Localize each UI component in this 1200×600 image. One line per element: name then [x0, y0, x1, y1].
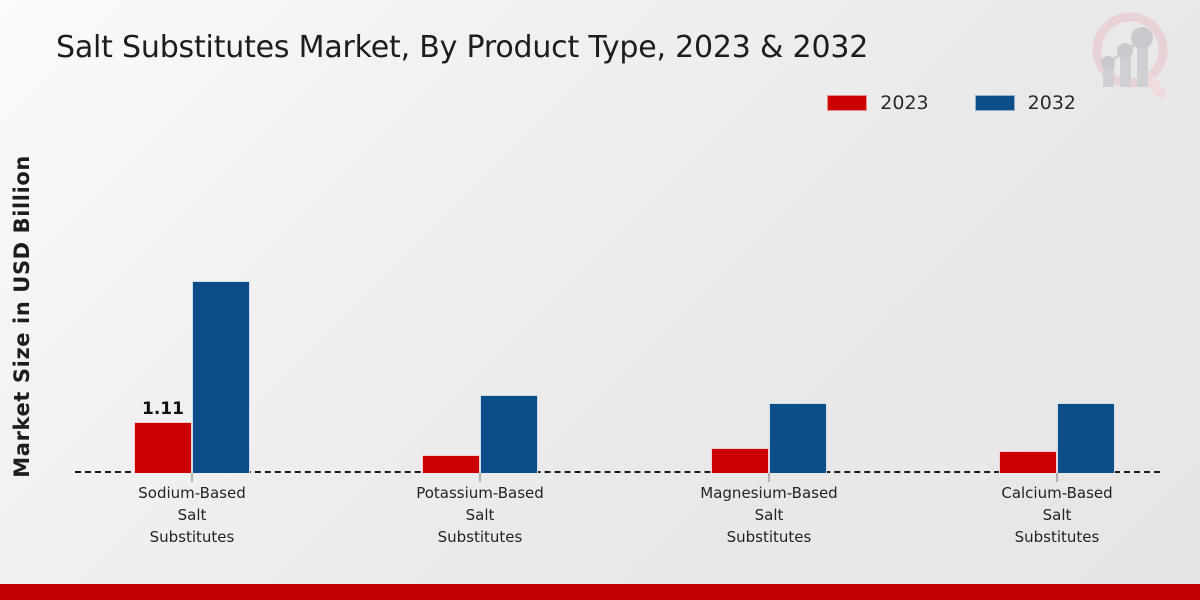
chart-container: Salt Substitutes Market, By Product Type…	[0, 0, 1200, 600]
bar-group	[711, 140, 827, 473]
x-axis-tick	[192, 473, 193, 482]
bar-group	[999, 140, 1115, 473]
x-axis-label-line: Salt	[947, 504, 1167, 526]
plot-area: 1.11	[75, 140, 1160, 473]
legend-item-2023[interactable]: 2023	[827, 92, 928, 114]
bar-value-label: 1.11	[142, 399, 184, 419]
x-axis-label-line: Substitutes	[947, 526, 1167, 548]
x-axis-label-1: Sodium-BasedSaltSubstitutes	[82, 482, 302, 548]
bar-2032-1[interactable]	[192, 281, 250, 473]
x-axis-label-line: Salt	[370, 504, 590, 526]
legend-item-2032[interactable]: 2032	[975, 92, 1076, 114]
legend-label-2023: 2023	[880, 92, 928, 114]
x-axis-label-line: Substitutes	[82, 526, 302, 548]
x-axis-label-line: Calcium-Based	[947, 482, 1167, 504]
x-axis-label-line: Potassium-Based	[370, 482, 590, 504]
bar-group: 1.11	[134, 140, 250, 473]
bar-2023-3[interactable]	[711, 448, 769, 473]
x-axis-label-3: Magnesium-BasedSaltSubstitutes	[659, 482, 879, 548]
bar-2032-3[interactable]	[769, 403, 827, 473]
x-axis-label-2: Potassium-BasedSaltSubstitutes	[370, 482, 590, 548]
x-axis-label-line: Sodium-Based	[82, 482, 302, 504]
x-axis-label-line: Substitutes	[370, 526, 590, 548]
bar-2032-4[interactable]	[1057, 403, 1115, 473]
bar-2023-1[interactable]: 1.11	[134, 422, 192, 473]
chart-title: Salt Substitutes Market, By Product Type…	[56, 30, 868, 65]
bar-2023-2[interactable]	[422, 455, 480, 473]
x-axis-label-4: Calcium-BasedSaltSubstitutes	[947, 482, 1167, 548]
footer-accent-bar	[0, 584, 1200, 600]
chart-legend: 2023 2032	[827, 92, 1076, 114]
bar-2023-4[interactable]	[999, 451, 1057, 473]
legend-swatch-2023	[827, 95, 867, 111]
x-axis-tick	[1057, 473, 1058, 482]
x-axis-tick	[480, 473, 481, 482]
y-axis-title: Market Size in USD Billion	[0, 146, 44, 486]
x-axis-label-line: Salt	[82, 504, 302, 526]
x-axis-tick	[769, 473, 770, 482]
x-axis-label-line: Salt	[659, 504, 879, 526]
legend-swatch-2032	[975, 95, 1015, 111]
bar-2032-2[interactable]	[480, 395, 538, 473]
bar-group	[422, 140, 538, 473]
y-axis-title-text: Market Size in USD Billion	[10, 155, 34, 478]
legend-label-2032: 2032	[1028, 92, 1076, 114]
x-axis-label-line: Substitutes	[659, 526, 879, 548]
market-research-magnifier-logo-icon	[1082, 6, 1186, 106]
x-axis-label-line: Magnesium-Based	[659, 482, 879, 504]
